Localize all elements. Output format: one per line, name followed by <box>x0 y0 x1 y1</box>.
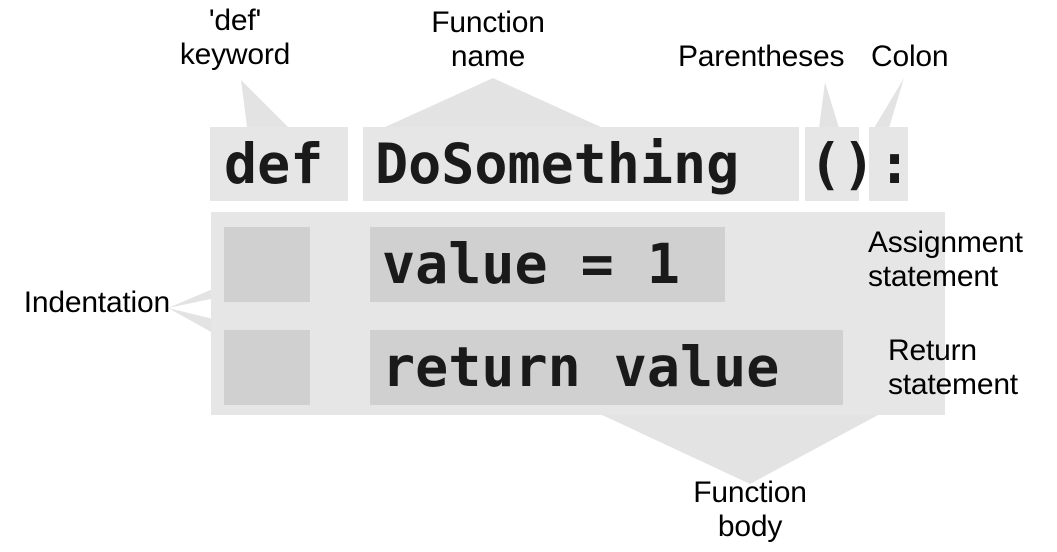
label-parentheses: Parentheses <box>678 40 878 74</box>
label-indentation: Indentation <box>0 286 170 320</box>
code-keyword-def: def <box>210 127 348 201</box>
code-indent-line2 <box>224 330 310 405</box>
code-colon: : <box>869 127 908 201</box>
pointer-function-name <box>383 78 603 130</box>
label-colon: Colon <box>871 40 991 74</box>
code-indent-line1 <box>224 227 310 302</box>
code-return-statement: return value <box>370 330 843 405</box>
label-return-statement: Return statement <box>888 334 1057 402</box>
pointer-colon <box>862 78 926 130</box>
code-function-name: DoSomething <box>363 127 799 201</box>
label-function-body: Function body <box>650 476 850 544</box>
label-function-name: Function name <box>398 6 578 74</box>
pointer-parentheses <box>805 82 865 130</box>
pointer-def-keyword <box>210 80 290 130</box>
diagram-canvas: def DoSomething () : value = 1 return va… <box>0 0 1057 552</box>
code-assignment-statement: value = 1 <box>370 227 725 302</box>
label-assignment-statement: Assignment statement <box>868 226 1057 294</box>
code-parentheses: () <box>805 127 859 201</box>
label-def-keyword: 'def' keyword <box>150 4 320 72</box>
